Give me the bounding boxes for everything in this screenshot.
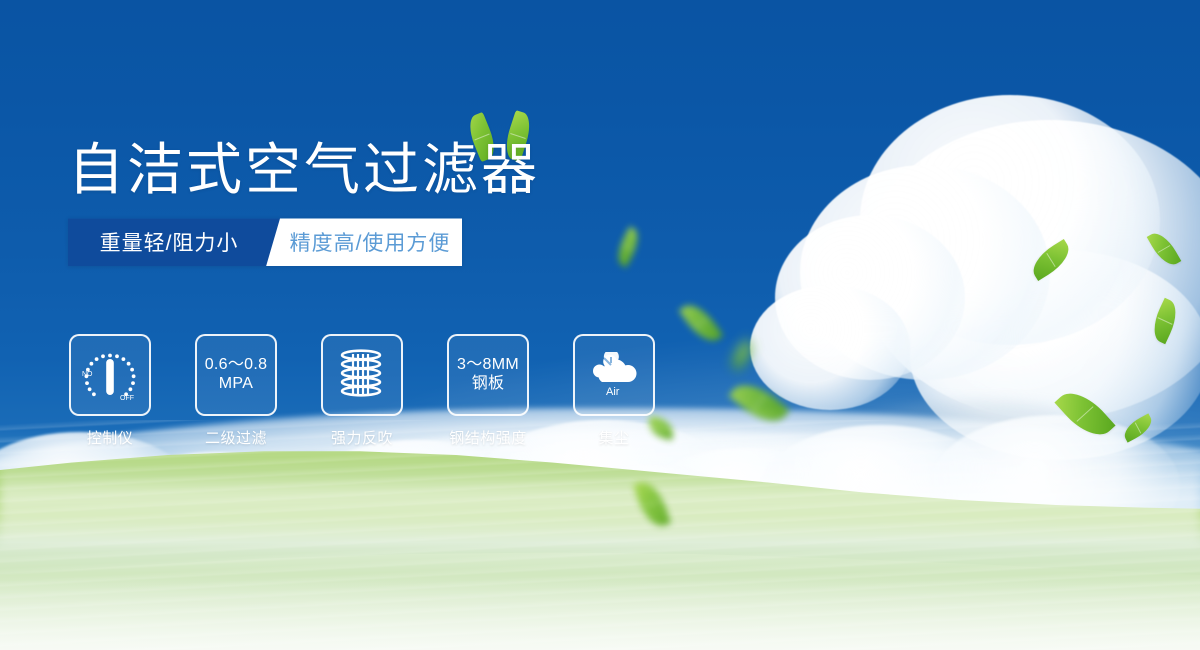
feature-item-dust-collection[interactable]: Air 集尘 (572, 334, 656, 448)
feature-item-controller[interactable]: NO OFF 控制仪 (68, 334, 152, 448)
pressure-unit: MPA (219, 375, 253, 394)
dial-gauge-icon: NO OFF (69, 334, 151, 416)
svg-text:OFF: OFF (120, 395, 134, 402)
feature-list: NO OFF 控制仪 0.6～0.8 MPA 二级过滤 (68, 334, 656, 448)
banner-content: 自洁式空气过滤器 重量轻/阻力小 精度高/使用方便 (68, 140, 708, 266)
page-title: 自洁式空气过滤器 (68, 140, 708, 200)
steel-thickness: 3～8MM (457, 356, 519, 375)
pressure-range: 0.6～0.8 (205, 356, 268, 375)
subtitle-right: 精度高/使用方便 (266, 218, 462, 266)
cloud-puff (750, 285, 910, 410)
feature-label: 强力反吹 (331, 427, 393, 448)
feature-item-steel-strength[interactable]: 3～8MM 钢板 钢结构强度 (446, 334, 530, 448)
steel-material: 钢板 (472, 375, 505, 394)
feature-label: 集尘 (598, 427, 629, 448)
feature-item-secondary-filter[interactable]: 0.6～0.8 MPA 二级过滤 (194, 334, 278, 448)
air-caption: Air (606, 386, 620, 398)
steel-plate-text-icon: 3～8MM 钢板 (447, 334, 529, 416)
feature-label: 控制仪 (87, 427, 134, 448)
subtitle-left: 重量轻/阻力小 (68, 218, 280, 266)
svg-text:NO: NO (82, 371, 93, 378)
cloud-air-icon: Air (573, 334, 655, 416)
pressure-text-icon: 0.6～0.8 MPA (195, 334, 277, 416)
feature-label: 二级过滤 (205, 427, 267, 448)
subtitle-bar: 重量轻/阻力小 精度高/使用方便 (68, 218, 462, 266)
filter-stack-icon (321, 334, 403, 416)
feature-label: 钢结构强度 (449, 427, 527, 448)
feature-item-backblow[interactable]: 强力反吹 (320, 334, 404, 448)
product-hero-banner: 自洁式空气过滤器 重量轻/阻力小 精度高/使用方便 (0, 0, 1200, 650)
